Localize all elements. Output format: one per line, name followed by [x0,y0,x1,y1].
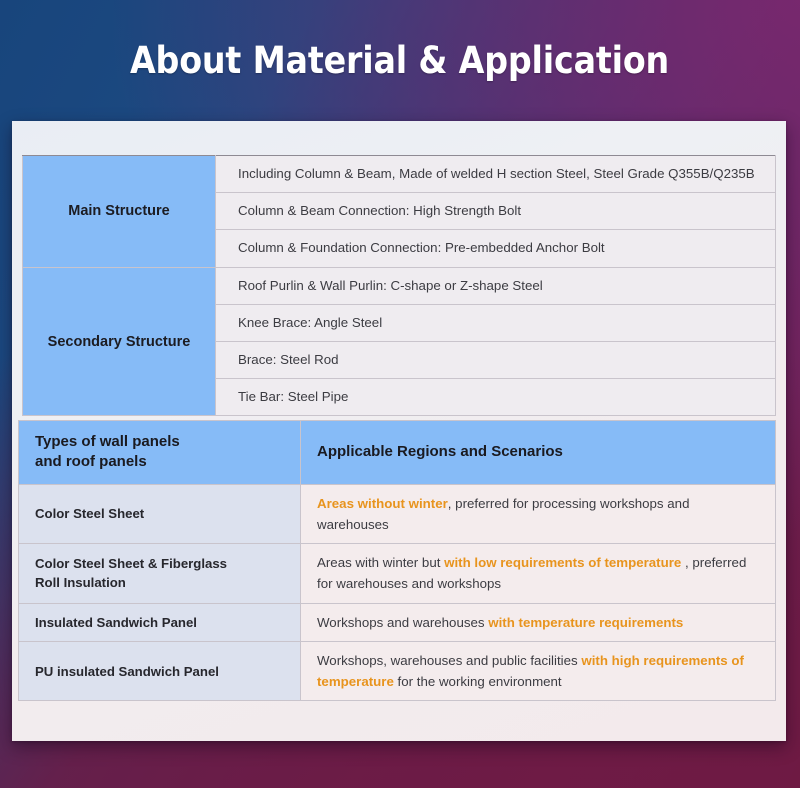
panel-scenario-cell: Areas with winter but with low requireme… [301,544,776,604]
table-row: Color Steel Sheet & FiberglassRoll Insul… [19,544,776,604]
panel-type-header-line2: and roof panels [35,453,147,470]
structure-detail: Tie Bar: Steel Pipe [216,379,776,416]
panel-type-column-header: Types of wall panels and roof panels [19,421,301,485]
title-bar: About Material & Application [0,0,800,121]
panel-type-cell: PU insulated Sandwich Panel [19,641,301,701]
structure-detail: Column & Foundation Connection: Pre-embe… [216,230,776,267]
scenario-text: Workshops and warehouses [317,615,488,630]
structure-category-secondary: Secondary Structure [23,267,216,416]
panel-scenario-cell: Workshops, warehouses and public facilit… [301,641,776,701]
panel-table-body: Color Steel SheetAreas without winter, p… [19,484,776,701]
panel-scenario-cell: Workshops and warehouses with temperatur… [301,603,776,641]
table-row: Color Steel SheetAreas without winter, p… [19,484,776,544]
table-row: Insulated Sandwich PanelWorkshops and wa… [19,603,776,641]
structure-category-main: Main Structure [23,156,216,268]
panel-scenario-cell: Areas without winter, preferred for proc… [301,484,776,544]
scenario-text: for the working environment [394,674,562,689]
panel-type-header-line1: Types of wall panels [35,433,180,450]
content-card: Main Structure Including Column & Beam, … [12,121,786,741]
scenario-highlight-text: Areas without winter [317,496,448,511]
structure-table: Main Structure Including Column & Beam, … [22,155,776,416]
scenario-text: Workshops, warehouses and public facilit… [317,653,581,668]
panel-scenario-column-header: Applicable Regions and Scenarios [301,421,776,485]
panel-type-cell: Color Steel Sheet & FiberglassRoll Insul… [19,544,301,604]
scenario-text: Areas with winter but [317,555,444,570]
structure-detail: Column & Beam Connection: High Strength … [216,193,776,230]
panel-type-cell: Color Steel Sheet [19,484,301,544]
structure-detail: Brace: Steel Rod [216,342,776,379]
panel-type-line: Color Steel Sheet & Fiberglass [35,556,227,571]
table-header-row: Types of wall panels and roof panels App… [19,421,776,485]
scenario-highlight-text: with low requirements of temperature [444,555,681,570]
structure-detail: Roof Purlin & Wall Purlin: C-shape or Z-… [216,267,776,304]
structure-detail: Including Column & Beam, Made of welded … [216,156,776,193]
structure-detail: Knee Brace: Angle Steel [216,304,776,341]
scenario-highlight-text: with temperature requirements [488,615,683,630]
slide-root: About Material & Application Main Struct… [0,0,800,788]
page-title: About Material & Application [130,39,669,82]
table-row: Secondary Structure Roof Purlin & Wall P… [23,267,776,304]
panel-application-table: Types of wall panels and roof panels App… [18,420,776,701]
panel-type-cell: Insulated Sandwich Panel [19,603,301,641]
panel-type-line: Roll Insulation [35,575,126,590]
table-row: Main Structure Including Column & Beam, … [23,156,776,193]
table-row: PU insulated Sandwich PanelWorkshops, wa… [19,641,776,701]
